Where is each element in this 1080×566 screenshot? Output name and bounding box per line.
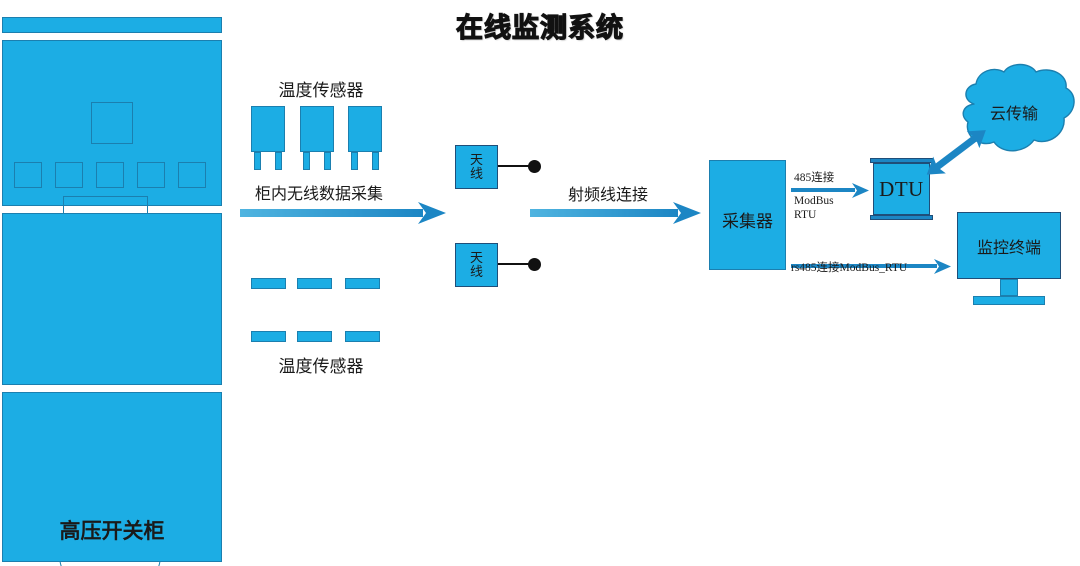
temperature-sensor-bar-5 <box>297 331 332 342</box>
sensor-leg-right <box>324 152 331 170</box>
rs485-top-label-line2: ModBus <box>794 195 834 207</box>
sensor-leg-right <box>275 152 282 170</box>
cabinet-panel-middle <box>2 213 222 385</box>
antenna-label-line1: 天 <box>470 251 483 265</box>
cabinet-indicator-4 <box>137 162 165 188</box>
sensor-leg-left <box>351 152 358 170</box>
antenna-cable-1 <box>498 165 531 167</box>
monitor-screen: 监控终端 <box>957 212 1061 279</box>
cabinet-meter-square <box>91 102 133 144</box>
antenna-label-line1: 天 <box>470 153 483 167</box>
collector-label: 采集器 <box>709 207 786 232</box>
monitor-stand-neck <box>1000 279 1018 296</box>
temperature-sensor-bar-6 <box>345 331 380 342</box>
cloud-bidirectional-arrow-icon <box>915 120 997 184</box>
rf-flow-arrow-icon <box>530 200 705 226</box>
cabinet-indicator-5 <box>178 162 206 188</box>
antenna-box-2: 天 线 <box>455 243 498 287</box>
cabinet-top-strip <box>2 17 222 33</box>
sensor-leg-left <box>254 152 261 170</box>
monitor-terminal-icon: 监控终端 <box>957 212 1061 316</box>
sensor-body <box>300 106 334 152</box>
antenna-label-line2: 线 <box>470 265 483 279</box>
temperature-sensor-bar-4 <box>251 331 286 342</box>
sensor-leg-left <box>303 152 310 170</box>
sensor-body <box>348 106 382 152</box>
cabinet-indicator-2 <box>55 162 83 188</box>
temperature-sensor-label-bottom: 温度传感器 <box>246 352 396 377</box>
temperature-sensor-bar-2 <box>297 278 332 289</box>
antenna-connector-dot-1 <box>528 160 541 173</box>
temperature-sensor-label-top: 温度传感器 <box>246 76 396 101</box>
temperature-sensor-bar-3 <box>345 278 380 289</box>
cabinet-label: 高压开关柜 <box>2 515 222 545</box>
rs485-top-label-line3: RTU <box>794 209 816 221</box>
temperature-sensor-bar-1 <box>251 278 286 289</box>
antenna-box-1: 天 线 <box>455 145 498 189</box>
antenna-cable-2 <box>498 263 531 265</box>
sensor-body <box>251 106 285 152</box>
diagram-canvas: 在线监测系统 高压开关柜 温度传感器 温度传感器 <box>0 0 1080 566</box>
wireless-flow-arrow-icon <box>240 200 450 226</box>
cabinet-panel-top <box>2 40 222 206</box>
antenna-label-line2: 线 <box>470 167 483 181</box>
rs485-top-label-rest: ModBus RTU <box>794 194 834 223</box>
sensor-leg-right <box>372 152 379 170</box>
monitor-stand-base <box>973 296 1045 305</box>
cabinet-indicator-3 <box>96 162 124 188</box>
cabinet-indicator-1 <box>14 162 42 188</box>
antenna-connector-dot-2 <box>528 258 541 271</box>
monitor-label: 监控终端 <box>977 234 1041 258</box>
rs485-bottom-label: rs485连接ModBus_RTU <box>791 261 907 275</box>
dtu-bottom-edge <box>870 215 933 220</box>
